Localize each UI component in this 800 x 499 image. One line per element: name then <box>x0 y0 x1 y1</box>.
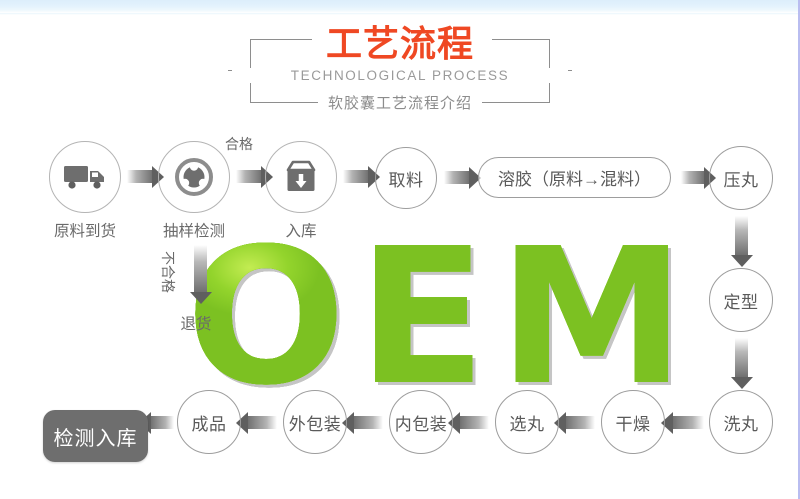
label-shaping: 定型 <box>724 288 759 313</box>
label-take-material: 取料 <box>389 166 424 191</box>
node-outer-packaging[interactable]: 外包装 <box>283 390 347 454</box>
top-gradient-band <box>0 0 800 13</box>
label-wash-pill: 洗丸 <box>724 410 759 435</box>
label-press-pill: 压丸 <box>724 166 759 191</box>
arrow-press-to-shaping <box>735 216 748 256</box>
label-inspect-store: 检测入库 <box>54 422 138 451</box>
truck-icon <box>63 162 107 192</box>
node-select-pill[interactable]: 选丸 <box>495 390 559 454</box>
arrow-unqualified-to-return <box>194 245 207 293</box>
label-unqualified: 不合格 <box>158 251 178 293</box>
sampling-inspection-icon <box>174 157 214 197</box>
node-drying[interactable]: 干燥 <box>601 390 665 454</box>
node-warehouse-in[interactable] <box>265 141 337 213</box>
oem-watermark-text: OEM <box>186 228 716 408</box>
header-block: 工艺流程 TECHNOLOGICAL PROCESS 软胶囊工艺流程介绍 <box>232 30 568 112</box>
caption-sampling-inspection: 抽样检测 <box>143 219 245 241</box>
arrow-outer-to-finished <box>247 416 277 429</box>
label-finished-product: 成品 <box>192 410 227 435</box>
node-press-pill[interactable]: 压丸 <box>709 146 773 210</box>
arrow-drying-to-select <box>565 416 595 429</box>
arrow-solgel-to-press <box>681 171 705 184</box>
node-take-material[interactable]: 取料 <box>375 147 437 209</box>
node-material-arrival[interactable] <box>49 141 121 213</box>
node-inspect-store[interactable]: 检测入库 <box>43 410 148 462</box>
node-sol-gel[interactable]: 溶胶（原料→混料） <box>478 157 671 198</box>
node-inner-packaging[interactable]: 内包装 <box>389 390 453 454</box>
node-sampling-inspection[interactable] <box>158 141 230 213</box>
arrow-shaping-to-wash <box>735 338 748 378</box>
oem-watermark: OEM <box>186 228 716 408</box>
header-subtitle-en: TECHNOLOGICAL PROCESS <box>232 68 568 83</box>
arrow-inner-to-outer <box>353 416 383 429</box>
process-flow-infographic: 工艺流程 TECHNOLOGICAL PROCESS 软胶囊工艺流程介绍 OEM… <box>0 0 800 499</box>
label-drying: 干燥 <box>616 410 651 435</box>
label-qualified: 合格 <box>225 134 253 154</box>
label-inner-packaging: 内包装 <box>395 410 448 435</box>
caption-material-arrival: 原料到货 <box>34 219 136 241</box>
arrow-select-to-inner <box>459 416 489 429</box>
caption-return-goods: 退货 <box>166 312 226 334</box>
arrow-material-to-sampling <box>127 170 153 183</box>
node-wash-pill[interactable]: 洗丸 <box>709 390 773 454</box>
inbox-down-arrow-icon <box>281 158 321 196</box>
arrow-warehouse-to-take <box>343 170 369 183</box>
arrow-wash-to-drying <box>672 416 704 429</box>
page-title: 工艺流程 <box>232 24 568 66</box>
label-sol-gel: 溶胶（原料→混料） <box>498 165 651 190</box>
caption-warehouse-in: 入库 <box>272 219 330 241</box>
top-gradient-band-fade <box>0 13 800 15</box>
header-subtitle-cn: 软胶囊工艺流程介绍 <box>318 92 482 113</box>
node-shaping[interactable]: 定型 <box>709 268 773 332</box>
arrow-sampling-to-warehouse <box>236 170 262 183</box>
header-subtitle-cn-wrap: 软胶囊工艺流程介绍 <box>232 92 568 113</box>
label-select-pill: 选丸 <box>510 410 545 435</box>
arrow-take-to-solgel <box>444 171 470 184</box>
arrow-finished-to-inspect <box>150 416 174 429</box>
label-outer-packaging: 外包装 <box>289 410 342 435</box>
node-finished-product[interactable]: 成品 <box>177 390 241 454</box>
